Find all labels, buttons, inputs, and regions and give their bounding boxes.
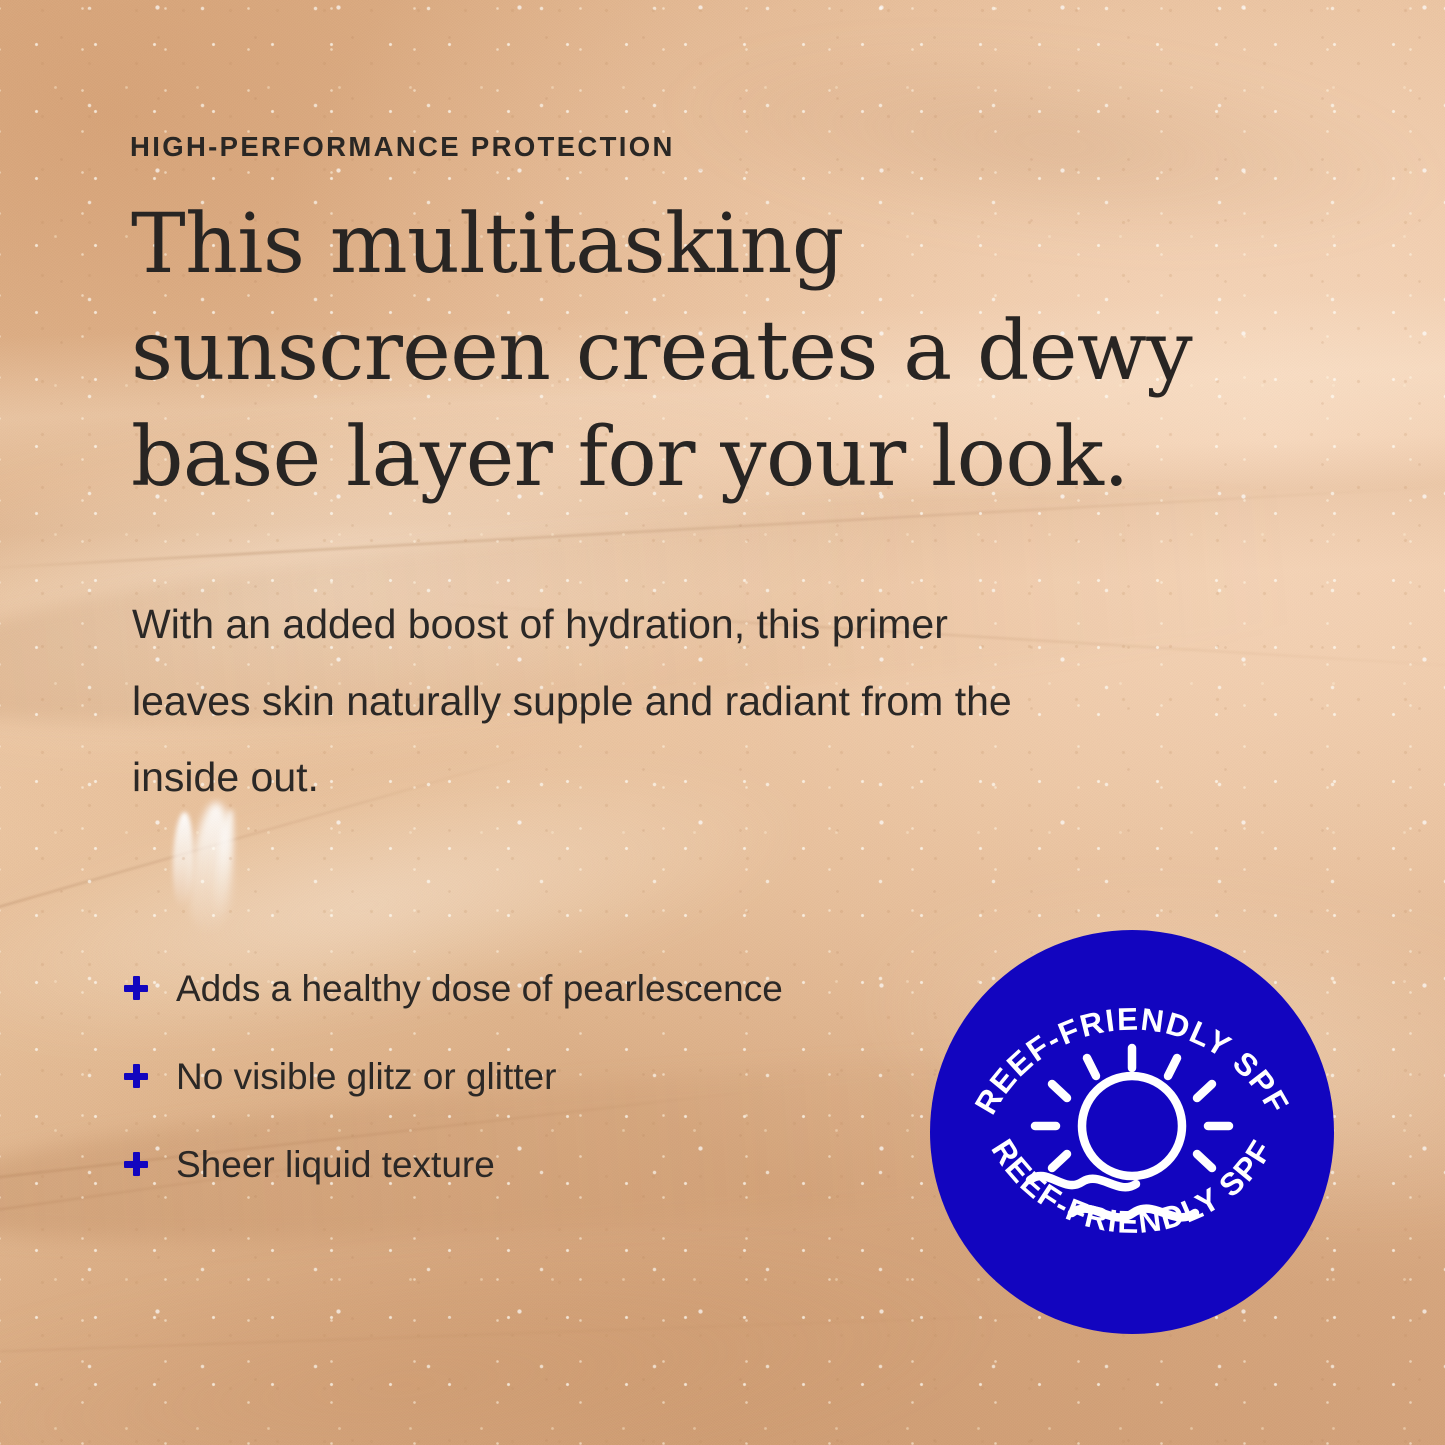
body-paragraph: With an added boost of hydration, this p…	[132, 586, 1032, 816]
page-title: This multitasking sunscreen creates a de…	[131, 192, 1281, 512]
list-item-label: Sheer liquid texture	[176, 1146, 495, 1183]
status-badge: REEF-FRIENDLY SPF REEF-FRIENDLY SPF	[930, 930, 1334, 1334]
list-item: Sheer liquid texture	[124, 1137, 783, 1191]
list-item-label: No visible glitz or glitter	[176, 1058, 556, 1095]
product-detail-image: HIGH-PERFORMANCE PROTECTION This multita…	[0, 0, 1445, 1445]
copy-content: HIGH-PERFORMANCE PROTECTION This multita…	[0, 0, 1445, 1445]
list-item-label: Adds a healthy dose of pearlescence	[176, 970, 783, 1007]
plus-icon	[124, 1152, 148, 1176]
list-item: No visible glitz or glitter	[124, 1049, 783, 1103]
eyebrow-label: HIGH-PERFORMANCE PROTECTION	[130, 131, 675, 163]
list-item: Adds a healthy dose of pearlescence	[124, 961, 783, 1015]
plus-icon	[124, 1064, 148, 1088]
feature-list: Adds a healthy dose of pearlescence No v…	[124, 961, 783, 1191]
plus-icon	[124, 976, 148, 1000]
